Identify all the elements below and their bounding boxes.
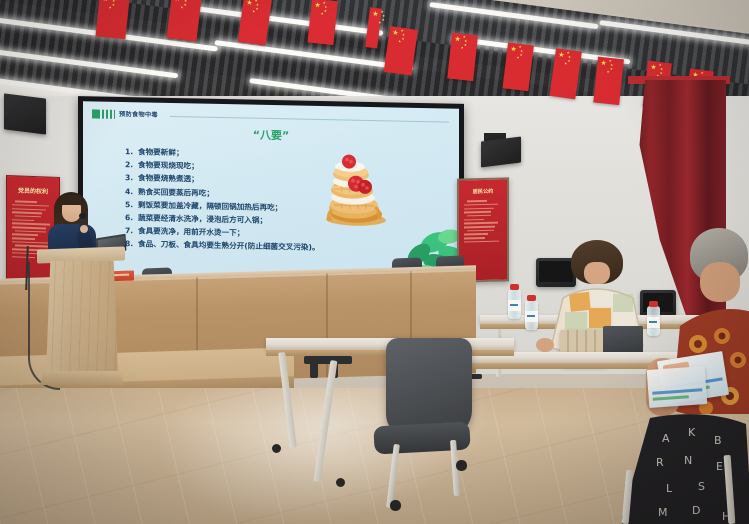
- banner-text-line: [12, 237, 35, 239]
- chinese-national-flag: ★★★★★: [593, 57, 624, 105]
- flag-big-star: ★: [600, 60, 607, 68]
- banner-text-line: [15, 230, 45, 233]
- slide-bullet-text: 蔬菜要经清水洗净，浸泡后方可入锅；: [138, 213, 267, 225]
- banner-text-line: [12, 256, 35, 258]
- lecture-hall-photo: ★★★★★★★★★★★★★★★★★★★★★★★★★★★★★★★★★★★★★★★★…: [0, 0, 749, 524]
- flag-small-star: ★: [460, 47, 463, 51]
- foreground-table-bracket-pin-1: [310, 356, 318, 378]
- banner-text-line: [467, 200, 487, 202]
- podium-body: [46, 261, 118, 373]
- banner-text-line: [12, 226, 46, 229]
- svg-text:B: B: [714, 434, 722, 447]
- flag-big-star: ★: [102, 0, 109, 3]
- banner-text-line: [464, 226, 495, 228]
- slide-bullet-text: 剩饭菜要加盖冷藏，隔顿回锅加热后再吃；: [138, 200, 282, 212]
- svg-text:E: E: [716, 460, 723, 473]
- flag-big-star: ★: [174, 0, 181, 3]
- banner-text-line: [464, 203, 498, 205]
- flag-small-star: ★: [401, 38, 404, 42]
- banner-text-line: [467, 215, 491, 217]
- banner-text-line: [464, 240, 499, 242]
- banner-text-line: [15, 215, 41, 217]
- wall-speaker-right: [481, 137, 521, 168]
- flag-small-star: ★: [398, 40, 401, 44]
- slide-bullet-number: 1.: [125, 145, 138, 158]
- svg-text:R: R: [656, 456, 664, 469]
- flag-small-star: ★: [183, 4, 186, 8]
- slide-bullet-number: 2.: [125, 158, 138, 171]
- slide-bullet-text: 食物要烧熟煮透；: [138, 174, 199, 184]
- presenter-fringe: [60, 195, 83, 205]
- audience-1-hand: [536, 338, 554, 352]
- chinese-national-flag: ★★★★★: [307, 0, 337, 45]
- microphone-head: [79, 213, 86, 219]
- banner-text-line: [464, 237, 485, 239]
- table-caster-right: [336, 478, 345, 487]
- flag-small-star: ★: [324, 10, 327, 14]
- svg-text:D: D: [692, 504, 700, 517]
- flag-small-star: ★: [255, 8, 258, 12]
- banner-text-line: [12, 219, 34, 221]
- flag-big-star: ★: [392, 29, 399, 37]
- slide-bullet-number: 4.: [125, 185, 138, 198]
- water-bottle-1: [508, 289, 521, 319]
- banner-text-line: [464, 222, 498, 224]
- flag-small-star: ★: [564, 62, 567, 66]
- flag-small-star: ★: [108, 6, 111, 10]
- chinese-national-flag: ★★★★★: [502, 42, 533, 91]
- flag-small-star: ★: [567, 60, 570, 64]
- slide-bullet-number: 5.: [125, 198, 138, 211]
- flag-small-star: ★: [180, 6, 183, 10]
- chair-caster-2: [390, 500, 401, 511]
- flag-big-star: ★: [510, 46, 517, 54]
- slide-bullet-text: 食具要洗净，用前开水烫一下；: [138, 227, 244, 238]
- table-caster-left: [272, 444, 281, 453]
- podium-top: [37, 246, 125, 263]
- svg-text:S: S: [698, 480, 705, 493]
- chair-caster-1: [456, 460, 467, 471]
- flag-small-star: ★: [516, 57, 519, 61]
- flag-small-star: ★: [378, 21, 381, 25]
- slide-bullet-text: 熟食买回要蒸后再吃；: [138, 187, 214, 198]
- slide-bullet-item: 8.食品、刀板、食具均要生熟分开(防止细菌交叉污染)。: [125, 237, 320, 254]
- flag-small-star: ★: [320, 13, 323, 17]
- wooden-podium: [42, 248, 120, 388]
- banner-text-line: [464, 233, 488, 235]
- slide-bullet-text: 食物要现烧现吃；: [138, 161, 199, 171]
- slide-bullet-number: 7.: [125, 224, 138, 237]
- svg-text:M: M: [658, 506, 668, 519]
- presenter-hand: [80, 225, 88, 233]
- banner-right-title: 居民公约: [459, 187, 507, 195]
- svg-text:K: K: [688, 426, 696, 439]
- podium-base: [40, 371, 124, 385]
- banner-text-line: [464, 207, 494, 209]
- banner-text-line: [12, 234, 38, 236]
- water-bottle-2: [525, 300, 538, 330]
- slide-header-bars-icon: [102, 110, 115, 119]
- svg-text:A: A: [662, 432, 670, 445]
- banner-text-line: [12, 252, 39, 254]
- slide-bullet-number: 8.: [125, 237, 138, 250]
- flag-big-star: ★: [246, 0, 253, 7]
- slide-bullet-text: 食物要新鲜；: [138, 147, 184, 157]
- flag-small-star: ★: [610, 68, 613, 72]
- wall-speaker-left: [4, 93, 46, 134]
- slide-bullet-text: 食品、刀板、食具均要生熟分开(防止细菌交叉污染)。: [138, 240, 320, 253]
- chinese-national-flag: ★★★★★: [95, 0, 129, 39]
- slide-header-text: 预防食物中毒: [119, 109, 158, 119]
- slide-header-rule: [170, 116, 449, 123]
- waffle-dessert-image: [316, 153, 392, 229]
- flag-small-star: ★: [112, 4, 115, 8]
- banner-text-line: [12, 208, 46, 211]
- chinese-national-flag: ★★★★★: [167, 0, 202, 41]
- flag-big-star: ★: [650, 64, 657, 72]
- flag-small-star: ★: [606, 71, 609, 75]
- flag-big-star: ★: [372, 11, 379, 19]
- banner-text-line: [12, 212, 42, 215]
- banner-text-line: [15, 201, 37, 203]
- chinese-national-flag: ★★★★★: [447, 33, 478, 81]
- health-brochure-2: [647, 366, 708, 408]
- banner-text-line: [467, 229, 494, 231]
- flag-small-star: ★: [519, 54, 522, 58]
- svg-text:N: N: [684, 454, 692, 467]
- slide-header-square-icon: [92, 109, 100, 118]
- slide-bullet-list: 1.食物要新鲜；2.食物要现烧现吃；3.食物要烧熟煮透；4.熟食买回要蒸后再吃；…: [125, 145, 320, 255]
- flag-small-star: ★: [381, 19, 384, 23]
- flag-small-star: ★: [464, 44, 467, 48]
- banner-text-line: [464, 211, 491, 213]
- banner-right-text-lines: [464, 198, 502, 245]
- banner-text-line: [464, 219, 484, 221]
- flag-big-star: ★: [454, 36, 461, 44]
- slide-bullet-number: 3.: [125, 171, 138, 184]
- flag-small-star: ★: [252, 10, 255, 14]
- flag-big-star: ★: [558, 52, 565, 60]
- slide-bullet-number: 6.: [125, 211, 138, 224]
- svg-text:L: L: [666, 482, 673, 495]
- flag-big-star: ★: [314, 2, 321, 10]
